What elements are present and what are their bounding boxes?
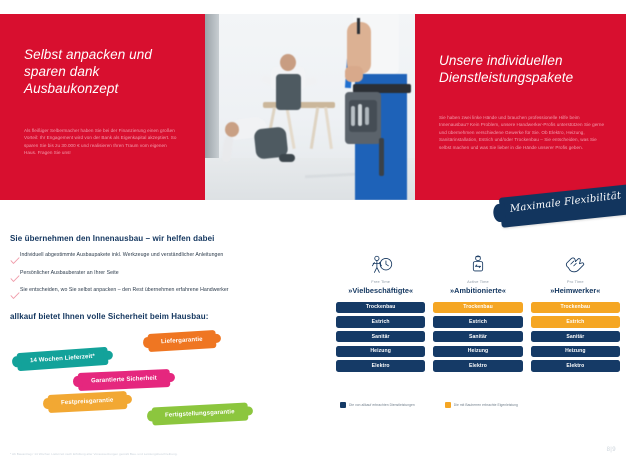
photo-worker-head [280,54,296,71]
list-item: Persönlicher Ausbauberater an Ihrer Seit… [10,270,300,278]
hero-photo [205,14,415,200]
badge-lieferzeit: 14 Wochen Lieferzeit* [16,347,108,371]
package-cell[interactable]: Elektro [336,360,425,372]
package-cell[interactable]: Sanitär [336,331,425,343]
footnote: * Ab Bauantrag / 14 Wochen Lieferzeit na… [10,452,178,456]
hero-right-heading: Unsere individuellen Dienstleistungspake… [439,52,619,86]
list-item-label: Individuell abgestimmte Ausbaupakete ink… [20,252,223,259]
package-cell[interactable]: Estrich [336,316,425,328]
page-number: 8|9 [607,447,616,453]
package-column-vielbeschaeftigte[interactable]: Free Time »Vielbeschäftigte« Trockenbau … [336,252,425,375]
photo-worker-head [225,122,239,137]
work-gloves-icon [563,252,587,276]
package-cell[interactable]: Estrich [531,316,620,328]
package-column-ambitionierte[interactable]: Active Time »Ambitionierte« Trockenbau E… [433,252,522,375]
packages-table: Free Time »Vielbeschäftigte« Trockenbau … [336,252,620,375]
hero-left-heading: Selbst anpacken und sparen dank Ausbauko… [24,46,194,97]
list-item-label: Sie entscheiden, wo Sie selbst anpacken … [20,287,229,294]
photo-tool [358,104,362,126]
check-icon [10,252,20,260]
package-name: »Heimwerker« [550,286,600,295]
brochure-page: Selbst anpacken und sparen dank Ausbauko… [0,0,626,470]
legend-label: Die von allkauf erbrachten Dienstleistun… [349,403,415,407]
legend-item-dienstleistungen: Die von allkauf erbrachten Dienstleistun… [340,402,415,408]
package-cell[interactable]: Elektro [531,360,620,372]
package-subtitle: Free Time [371,279,390,284]
person-clock-icon [367,252,395,276]
photo-worker-shoe [279,154,295,162]
package-cell[interactable]: Estrich [433,316,522,328]
package-subtitle: Pro Time [567,279,584,284]
check-icon [10,270,20,278]
package-cell[interactable]: Trockenbau [336,302,425,314]
package-cells: Trockenbau Estrich Sanitär Heizung Elekt… [433,302,522,375]
legend-swatch-orange [445,402,451,408]
package-cell[interactable]: Sanitär [433,331,522,343]
package-cell[interactable]: Heizung [531,346,620,358]
hero-left-body: Als fleißiger Selbermacher haben Sie bei… [24,127,180,157]
package-cells: Trockenbau Estrich Sanitär Heizung Elekt… [336,302,425,375]
list-item: Individuell abgestimmte Ausbaupakete ink… [10,252,300,260]
package-name: »Vielbeschäftigte« [348,286,413,295]
packages-columns: Free Time »Vielbeschäftigte« Trockenbau … [336,252,620,375]
package-subtitle: Active Time [467,279,489,284]
badge-liefergarantie: Liefergarantie [148,330,217,352]
photo-foreground-hand [345,66,363,82]
package-cell[interactable]: Heizung [433,346,522,358]
photo-tool [365,107,369,125]
hero-band: Selbst anpacken und sparen dank Ausbauko… [0,14,626,200]
guarantee-badges: Liefergarantie 14 Wochen Lieferzeit* Gar… [0,326,320,436]
legend-item-eigenleistung: Die mit Bauherren erbrachte Eigenleistun… [445,402,518,408]
package-cells: Trockenbau Estrich Sanitär Heizung Elekt… [531,302,620,375]
package-cell[interactable]: Trockenbau [433,302,522,314]
top-margin [0,0,626,14]
package-cell[interactable]: Elektro [433,360,522,372]
hero-panel-right: Unsere individuellen Dienstleistungspake… [415,14,626,200]
photo-worker-overall [276,74,301,110]
list-item-label: Persönlicher Ausbauberater an Ihrer Seit… [20,270,119,277]
hero-panel-left: Selbst anpacken und sparen dank Ausbauko… [0,14,205,200]
person-tools-icon [467,252,489,276]
list-item: Sie entscheiden, wo Sie selbst anpacken … [10,287,300,295]
badge-fertigstellungsgarantie: Fertigstellungsgarantie [152,403,248,426]
package-cell[interactable]: Sanitär [531,331,620,343]
innenausbau-bullet-list: Individuell abgestimmte Ausbaupakete ink… [10,252,300,305]
innenausbau-title: Sie übernehmen den Innenausbau – wir hel… [10,234,215,243]
hero-right-body: Sie haben zwei linke Hände und brauchen … [439,114,609,151]
sicherheit-title: allkauf bietet Ihnen volle Sicherheit be… [10,312,208,321]
legend-swatch-navy [340,402,346,408]
photo-hammer [379,138,384,176]
badge-garantierte-sicherheit: Garantierte Sicherheit [78,369,171,391]
photo-pencil [357,18,360,34]
packages-legend: Die von allkauf erbrachten Dienstleistun… [340,402,518,408]
legend-label: Die mit Bauherren erbrachte Eigenleistun… [454,403,518,407]
check-icon [10,287,20,295]
badge-festpreisgarantie: Festpreisgarantie [48,391,127,413]
package-column-heimwerker[interactable]: Pro Time »Heimwerker« Trockenbau Estrich… [531,252,620,375]
photo-tool [351,106,355,126]
package-cell[interactable]: Heizung [336,346,425,358]
package-name: »Ambitionierte« [450,286,506,295]
package-cell[interactable]: Trockenbau [531,302,620,314]
